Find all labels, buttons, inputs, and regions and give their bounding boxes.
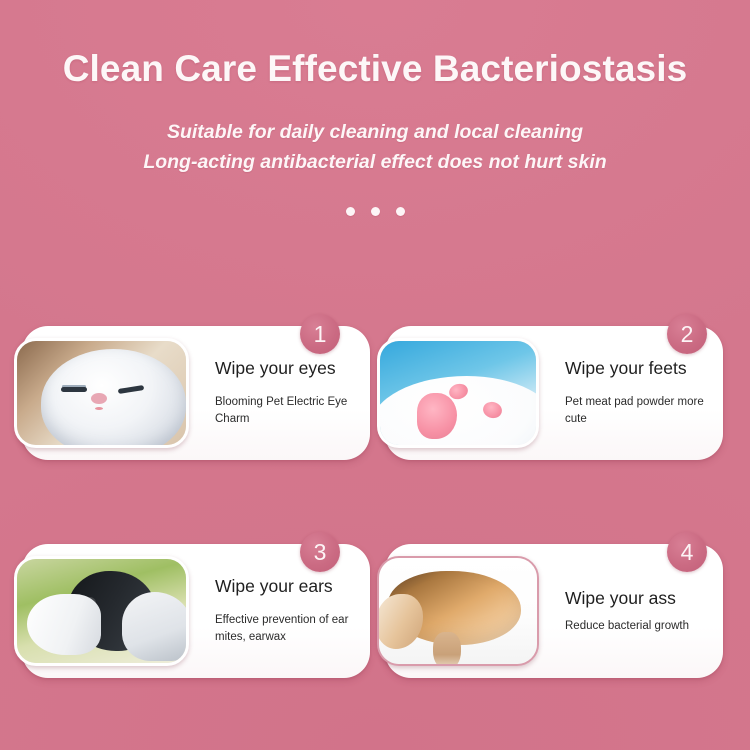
card-2-description: Pet meat pad powder more cute bbox=[565, 394, 705, 427]
card-1-description: Blooming Pet Electric Eye Charm bbox=[215, 394, 352, 427]
poster-header: Clean Care Effective Bacteriostasis Suit… bbox=[0, 0, 750, 216]
card-4-title: Wipe your ass bbox=[565, 588, 705, 610]
card-3-title: Wipe your ears bbox=[215, 576, 352, 598]
paw-toe-pad-icon bbox=[481, 400, 503, 420]
card-3-text: Wipe your ears Effective prevention of e… bbox=[189, 576, 370, 645]
dog-tail-icon bbox=[377, 594, 423, 649]
feature-card-3[interactable]: Wipe your ears Effective prevention of e… bbox=[22, 544, 370, 678]
card-4-text: Wipe your ass Reduce bacterial growth bbox=[539, 588, 723, 635]
border-collie-ear-cleaning-photo bbox=[17, 559, 186, 663]
subtitle-line-1: Suitable for daily cleaning and local cl… bbox=[0, 117, 750, 147]
page-title: Clean Care Effective Bacteriostasis bbox=[0, 48, 750, 91]
cat-eye-icon bbox=[61, 387, 87, 392]
dot-separator bbox=[0, 207, 750, 216]
card-1-number-badge: 1 bbox=[300, 314, 340, 354]
card-2-thumbnail bbox=[377, 338, 539, 448]
card-row: Wipe your eyes Blooming Pet Electric Eye… bbox=[0, 312, 750, 460]
cat-eye-icon bbox=[118, 385, 144, 394]
ginger-dog-rear-photo bbox=[379, 558, 537, 664]
feature-card-1[interactable]: Wipe your eyes Blooming Pet Electric Eye… bbox=[22, 326, 370, 460]
feature-card-4[interactable]: Wipe your ass Reduce bacterial growth 4 bbox=[385, 544, 723, 678]
card-4-number-badge: 4 bbox=[667, 532, 707, 572]
feature-card-grid: Wipe your eyes Blooming Pet Electric Eye… bbox=[0, 312, 750, 748]
card-1-thumbnail bbox=[14, 338, 189, 448]
card-4-thumbnail bbox=[377, 556, 539, 666]
card-3-thumbnail bbox=[14, 556, 189, 666]
dog-eye-icon bbox=[86, 599, 94, 607]
card-1-text: Wipe your eyes Blooming Pet Electric Eye… bbox=[189, 358, 370, 427]
subtitle-block: Suitable for daily cleaning and local cl… bbox=[0, 117, 750, 177]
card-1-title: Wipe your eyes bbox=[215, 358, 352, 380]
card-2-text: Wipe your feets Pet meat pad powder more… bbox=[539, 358, 723, 427]
subtitle-line-2: Long-acting antibacterial effect does no… bbox=[0, 147, 750, 177]
card-4-description: Reduce bacterial growth bbox=[565, 618, 705, 635]
dot-icon bbox=[396, 207, 405, 216]
card-3-description: Effective prevention of ear mites, earwa… bbox=[215, 612, 352, 645]
paw-pad-icon bbox=[417, 393, 457, 439]
cat-pink-paw-pad-photo bbox=[380, 341, 536, 445]
feature-card-2[interactable]: Wipe your feets Pet meat pad powder more… bbox=[385, 326, 723, 460]
white-cat-winking-photo bbox=[17, 341, 186, 445]
card-3-number-badge: 3 bbox=[300, 532, 340, 572]
card-row: Wipe your ears Effective prevention of e… bbox=[0, 530, 750, 678]
promo-poster: Clean Care Effective Bacteriostasis Suit… bbox=[0, 0, 750, 750]
card-2-title: Wipe your feets bbox=[565, 358, 705, 380]
dot-icon bbox=[371, 207, 380, 216]
card-2-number-badge: 2 bbox=[667, 314, 707, 354]
hand-wiping-ear-icon bbox=[122, 592, 189, 661]
dot-icon bbox=[346, 207, 355, 216]
